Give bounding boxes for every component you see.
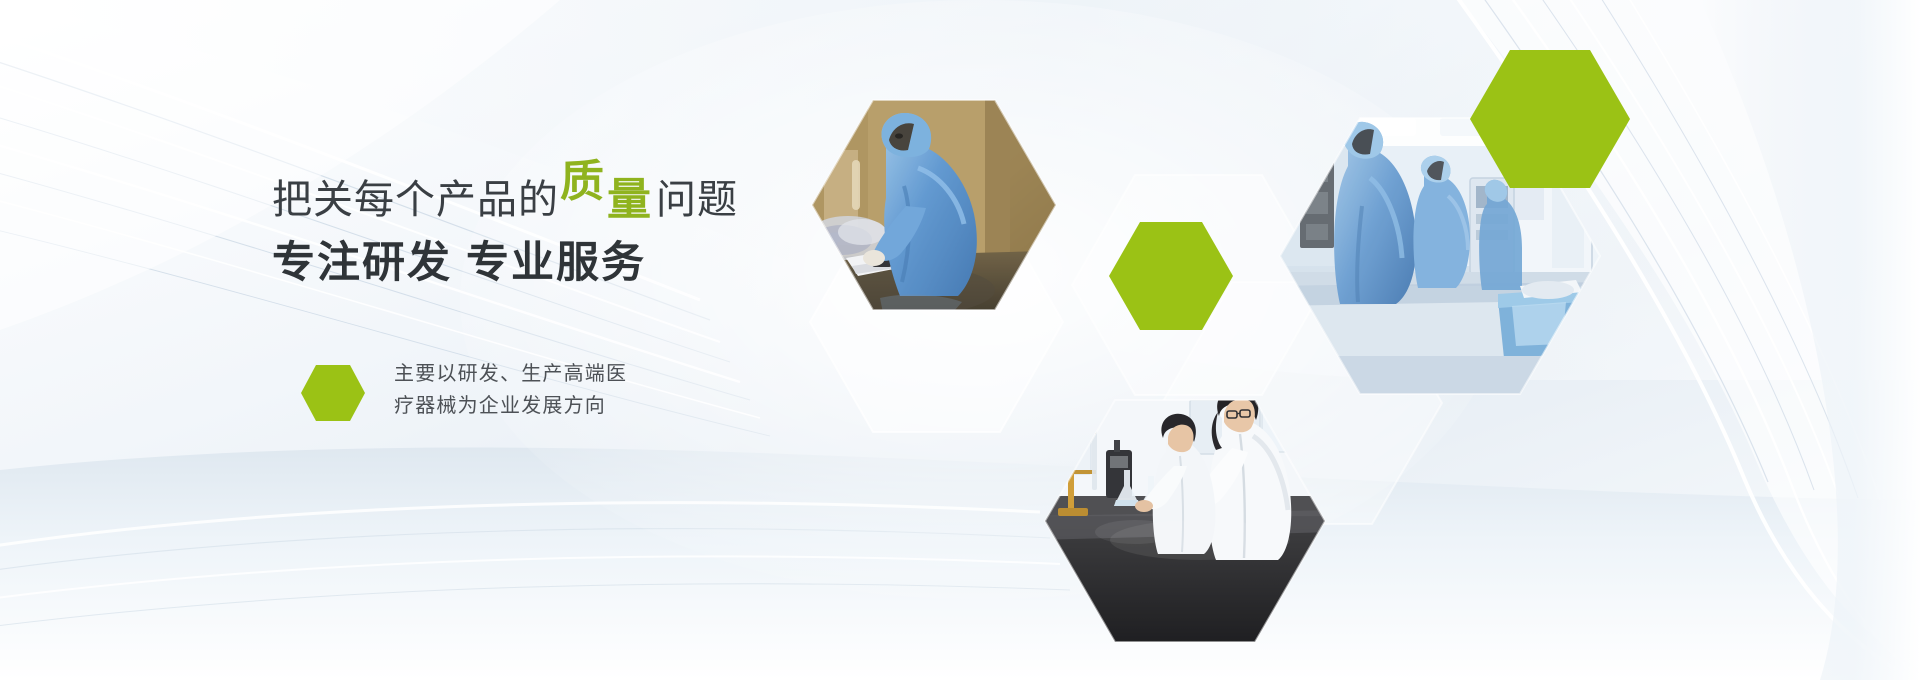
hero-banner: 把关每个产品的 质 量 问题 专注研发 专业服务 主要以研发、生产高端医 疗器械… [0,0,1920,680]
headline-line-2: 专注研发 专业服务 [272,240,832,287]
hexagon-bullet-icon [300,364,366,422]
description-row: 主要以研发、生产高端医 疗器械为企业发展方向 [300,358,627,423]
headline-accent-quality-2: 量 [607,178,651,222]
headline-accent-quality-1: 质 [560,160,604,204]
headline-tail-text: 问题 [656,180,738,220]
headline-block: 把关每个产品的 质 量 问题 专注研发 专业服务 [272,176,832,287]
headline-line-1: 把关每个产品的 质 量 问题 [272,176,832,220]
headline-lead-text: 把关每个产品的 [272,180,559,220]
description-text: 主要以研发、生产高端医 疗器械为企业发展方向 [394,358,627,423]
hexagon-cluster [0,0,1920,680]
